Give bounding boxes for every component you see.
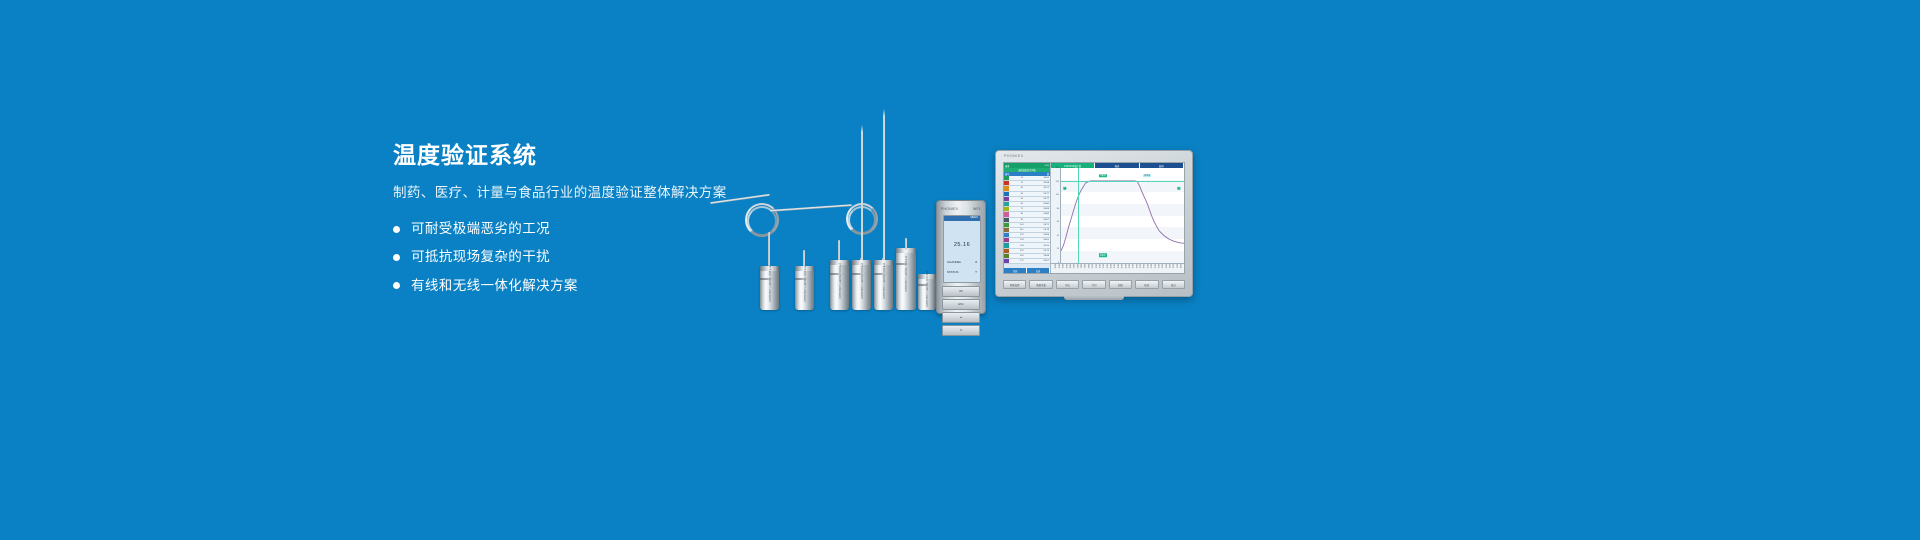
channel-row-list[interactable]: 1#24.622#24.583#24.714#24.775#24.776#24.…: [1004, 176, 1050, 268]
monitor-stand: [1064, 295, 1124, 300]
channel-value: 24.62: [1035, 177, 1050, 179]
marker-end[interactable]: 结束点: [1099, 254, 1107, 258]
needle-probe: [883, 116, 885, 262]
bullet-dot-icon: [393, 254, 400, 261]
channel-value: 24.66: [1035, 255, 1050, 257]
channel-id: 10#: [1009, 224, 1035, 226]
channel-id: 12#: [1009, 234, 1035, 236]
channel-id: 15#: [1009, 250, 1035, 252]
handheld-row-value: 8: [975, 260, 977, 264]
monitor-button-exit[interactable]: 退出: [1162, 280, 1185, 289]
logger-label: PT100 TEMP LOGGER: [768, 266, 772, 302]
x-axis: 10:0010:0210:0410:0610:0810:1010:1210:14…: [1051, 263, 1184, 273]
channel-id: 16#: [1009, 255, 1035, 257]
y-axis-tick: 120: [1056, 181, 1059, 183]
y-axis-tick: 100: [1056, 194, 1059, 196]
handheld-title-bar: MENU: [944, 216, 980, 221]
channel-value: 24.77: [1035, 198, 1050, 200]
hero-banner: 温度验证系统 制药、医疗、计量与食品行业的温度验证整体解决方案 可耐受极端恶劣的…: [0, 0, 1920, 540]
bullet-dot-icon: [393, 282, 400, 289]
channel-id: 11#: [1009, 229, 1035, 231]
channel-value: 24.61: [1035, 239, 1050, 241]
data-logger: PT100 TEMP LOGGER: [918, 274, 936, 310]
handheld-brand: PHONIEX: [941, 207, 958, 211]
channel-header-label: 通道: [1005, 164, 1009, 168]
channel-id: 3#: [1009, 187, 1035, 189]
product-photo-group: PT100 TEMP LOGGER PT100 TEMP LOGGER PT10…: [700, 110, 1240, 320]
channel-value: 24.77: [1035, 193, 1050, 195]
probe-stem: [905, 238, 907, 250]
select-all-button[interactable]: 全选: [1004, 268, 1027, 273]
y-axis-tick: 140: [1056, 167, 1059, 169]
logger-label: PT100 TEMP LOGGER: [925, 271, 929, 307]
handheld-key-ok[interactable]: OK: [942, 286, 980, 297]
data-logger: PT100 TEMP LOGGER: [795, 266, 814, 310]
channel-id: 4#: [1009, 193, 1035, 195]
probe-stem: [768, 232, 770, 266]
channel-id: 5#: [1009, 198, 1035, 200]
channel-value: 24.80: [1035, 203, 1050, 205]
handheld-key-up[interactable]: ▲: [942, 312, 980, 323]
channel-value: 24.72: [1035, 250, 1050, 252]
monitor-button-curve[interactable]: 曲线: [1109, 280, 1132, 289]
limit-line: [1061, 181, 1184, 182]
handheld-row-name: CHANNEL: [947, 260, 961, 264]
table-row[interactable]: 17#24.57: [1004, 259, 1050, 264]
x-axis-tick: 11:10: [1180, 264, 1184, 268]
handheld-big-value: 25.16: [944, 242, 980, 248]
monitor-button-print[interactable]: 打印: [1082, 280, 1105, 289]
channel-id: 2#: [1009, 182, 1035, 184]
data-logger: PT100 TEMP LOGGER: [874, 260, 893, 310]
y-axis-tick: 20: [1057, 248, 1059, 250]
channel-id: 14#: [1009, 245, 1035, 247]
y-axis-tick: 40: [1057, 235, 1059, 237]
channel-table-panel[interactable]: 通道 0.00 通道温度显示列表 编号 值 1#24.622#24.583#24…: [1004, 163, 1051, 273]
feature-label: 有线和无线一体化解决方案: [411, 278, 578, 294]
bullet-dot-icon: [393, 226, 400, 233]
channel-value: 24.69: [1035, 208, 1050, 210]
data-logger: PT100 TEMP LOGGER: [830, 260, 849, 310]
cursor-line[interactable]: [1078, 168, 1079, 263]
channel-id: 6#: [1009, 203, 1035, 205]
handheld-screen: MENU 25.16 CHANNEL 8 STATUS T: [943, 215, 981, 283]
channel-id: 13#: [1009, 239, 1035, 241]
handheld-row: CHANNEL 8: [947, 260, 977, 264]
channel-id: 8#: [1009, 213, 1035, 215]
monitor-display: PHONIEX 通道 0.00 通道温度显示列表 编号 值 1#24.622#2…: [995, 150, 1193, 297]
channel-value: 24.64: [1035, 234, 1050, 236]
channel-value: 24.71: [1035, 224, 1050, 226]
data-logger: PT100 TEMP LOGGER: [760, 266, 779, 310]
data-logger: PT100 TEMP LOGGER: [852, 260, 871, 310]
feature-label: 可抵抗现场复杂的干扰: [411, 249, 550, 265]
logger-label: PT100 TEMP LOGGER: [904, 256, 908, 292]
monitor-button-report[interactable]: 报表: [1135, 280, 1158, 289]
monitor-button-settings[interactable]: 参数设置: [1003, 280, 1026, 289]
logger-label: PT100 TEMP LOGGER: [882, 263, 886, 299]
feature-label: 可耐受极端恶劣的工况: [411, 221, 550, 237]
monitor-button-acquire[interactable]: 数据采集: [1029, 280, 1052, 289]
channel-id: 17#: [1009, 260, 1035, 262]
marker-a[interactable]: A: [1177, 187, 1180, 190]
monitor-button-export[interactable]: 导出: [1056, 280, 1079, 289]
plot-area: 020406080100120140 开始点 保温段 结束点 B A: [1051, 168, 1184, 263]
handheld-key-down[interactable]: ▼: [942, 325, 980, 336]
logger-label: PT100 TEMP LOGGER: [860, 263, 864, 299]
channel-value: 24.58: [1035, 182, 1050, 184]
handheld-key-esc[interactable]: ESC: [942, 299, 980, 310]
channel-table-footer[interactable]: 全选 反选: [1004, 268, 1050, 273]
plot-canvas[interactable]: 开始点 保温段 结束点 B A: [1061, 168, 1184, 263]
handheld-brand-row: PHONIEX WF1: [941, 207, 981, 211]
chart-panel[interactable]: F0/FH/A0值计算 报表 曲线 020406080100120140 开: [1051, 163, 1184, 273]
invert-selection-button[interactable]: 反选: [1027, 268, 1050, 273]
channel-id: 9#: [1009, 219, 1035, 221]
channel-header-value: 0.00: [1045, 165, 1049, 167]
handheld-row-name: STATUS: [947, 270, 958, 274]
channel-value: 24.57: [1035, 260, 1050, 262]
channel-value: 24.67: [1035, 219, 1050, 221]
handheld-menu-label: MENU: [970, 216, 978, 219]
probe-wire: [770, 204, 852, 212]
channel-value: 24.60: [1035, 213, 1050, 215]
channel-value: 24.73: [1035, 229, 1050, 231]
temperature-curve: [1061, 168, 1184, 263]
software-window[interactable]: 通道 0.00 通道温度显示列表 编号 值 1#24.622#24.583#24…: [1003, 162, 1185, 274]
logger-label: PT100 TEMP LOGGER: [803, 266, 807, 302]
handheld-keypad[interactable]: OK ESC ▲ ▼: [942, 286, 980, 308]
marker-start[interactable]: 开始点: [1099, 174, 1107, 178]
channel-id: 1#: [1009, 177, 1035, 179]
y-axis-tick: 60: [1057, 221, 1059, 223]
marker-b[interactable]: B: [1063, 187, 1066, 190]
data-logger: PT100 TEMP LOGGER: [896, 248, 916, 310]
logger-label: PT100 TEMP LOGGER: [838, 263, 842, 299]
handheld-row: STATUS T: [947, 270, 977, 274]
monitor-brand: PHONIEX: [1004, 154, 1024, 158]
monitor-button-bar[interactable]: 参数设置 数据采集 导出 打印 曲线 报表 退出: [1003, 277, 1185, 292]
y-axis: 020406080100120140: [1051, 168, 1061, 263]
needle-probe: [861, 132, 863, 262]
channel-value: 24.71: [1035, 187, 1050, 189]
handheld-row-value: T: [975, 270, 977, 274]
channel-value: 24.70: [1035, 245, 1050, 247]
y-axis-tick: 80: [1057, 208, 1059, 210]
channel-id: 7#: [1009, 208, 1035, 210]
handheld-model: WF1: [973, 207, 981, 211]
marker-hold[interactable]: 保温段: [1143, 174, 1151, 178]
handheld-reader[interactable]: PHONIEX WF1 MENU 25.16 CHANNEL 8 STATUS …: [936, 200, 986, 314]
